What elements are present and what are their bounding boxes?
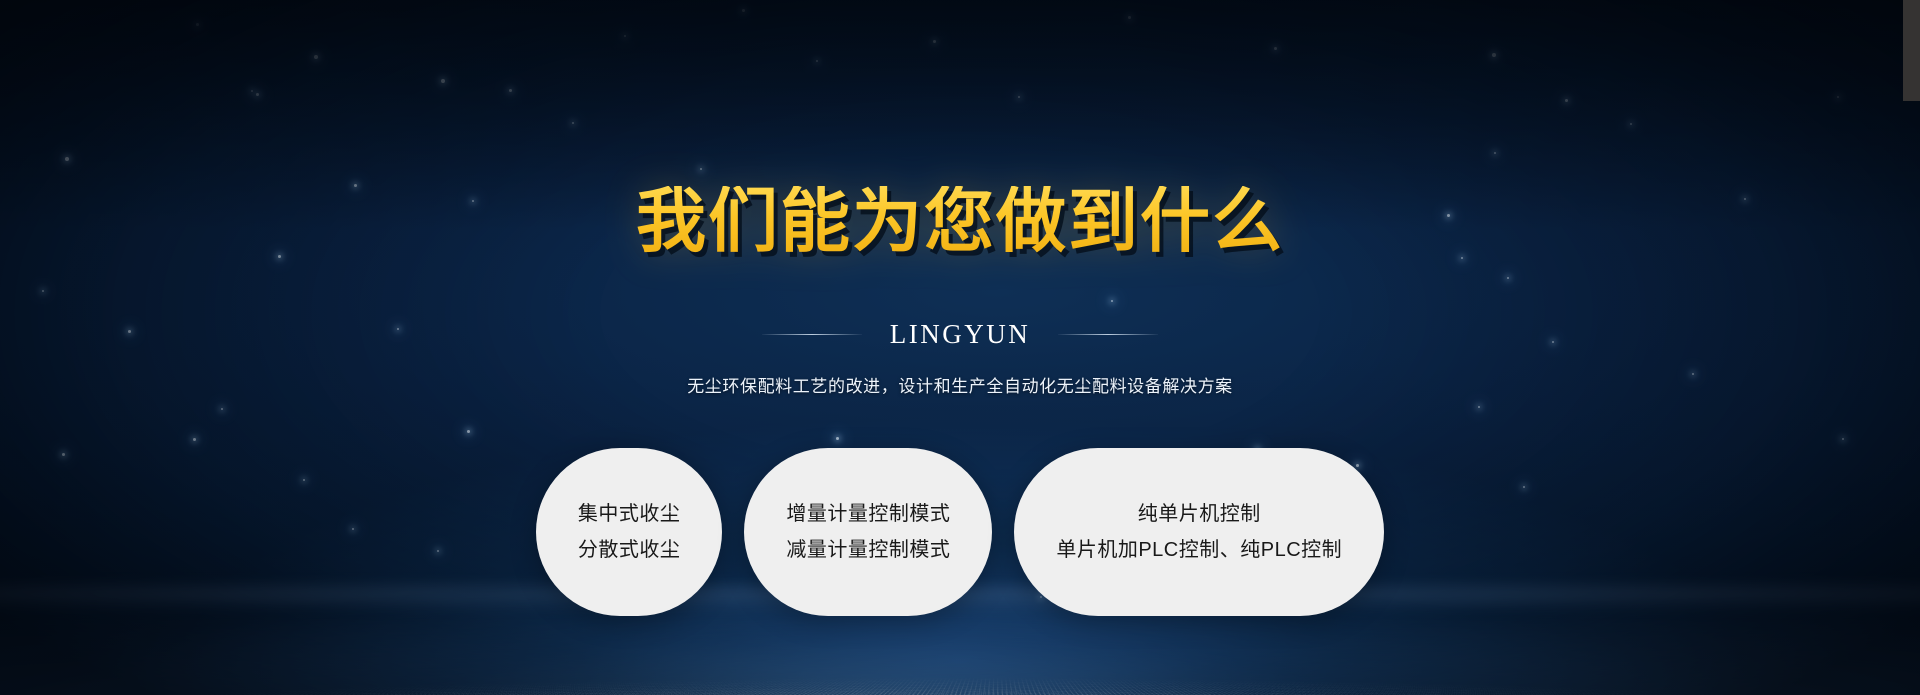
- card-line-2: 分散式收尘: [578, 540, 681, 560]
- page-description: 无尘环保配料工艺的改进，设计和生产全自动化无尘配料设备解决方案: [687, 372, 1233, 397]
- divider-line-right: [1058, 334, 1158, 335]
- banner-content: 我们能为您做到什么 LINGYUN 无尘环保配料工艺的改进，设计和生产全自动化无…: [0, 0, 1920, 695]
- subtitle-row: LINGYUN: [762, 319, 1158, 350]
- feature-card-dust-collection[interactable]: 集中式收尘 分散式收尘: [536, 448, 723, 616]
- brand-name: LINGYUN: [890, 319, 1030, 350]
- feature-card-metering-mode[interactable]: 增量计量控制模式 减量计量控制模式: [744, 448, 992, 616]
- feature-card-control-system[interactable]: 纯单片机控制 单片机加PLC控制、纯PLC控制: [1014, 448, 1384, 616]
- card-line-2: 单片机加PLC控制、纯PLC控制: [1056, 540, 1342, 560]
- banner-stage: 我们能为您做到什么 LINGYUN 无尘环保配料工艺的改进，设计和生产全自动化无…: [0, 0, 1920, 695]
- page-title: 我们能为您做到什么: [636, 186, 1284, 256]
- card-line-2: 减量计量控制模式: [786, 540, 950, 560]
- corner-ui-strip: [1903, 0, 1920, 101]
- divider-line-left: [762, 334, 862, 335]
- feature-card-list: 集中式收尘 分散式收尘 增量计量控制模式 减量计量控制模式 纯单片机控制 单片机…: [536, 448, 1384, 616]
- card-line-1: 纯单片机控制: [1138, 504, 1261, 524]
- card-line-1: 增量计量控制模式: [786, 504, 950, 524]
- card-line-1: 集中式收尘: [578, 504, 681, 524]
